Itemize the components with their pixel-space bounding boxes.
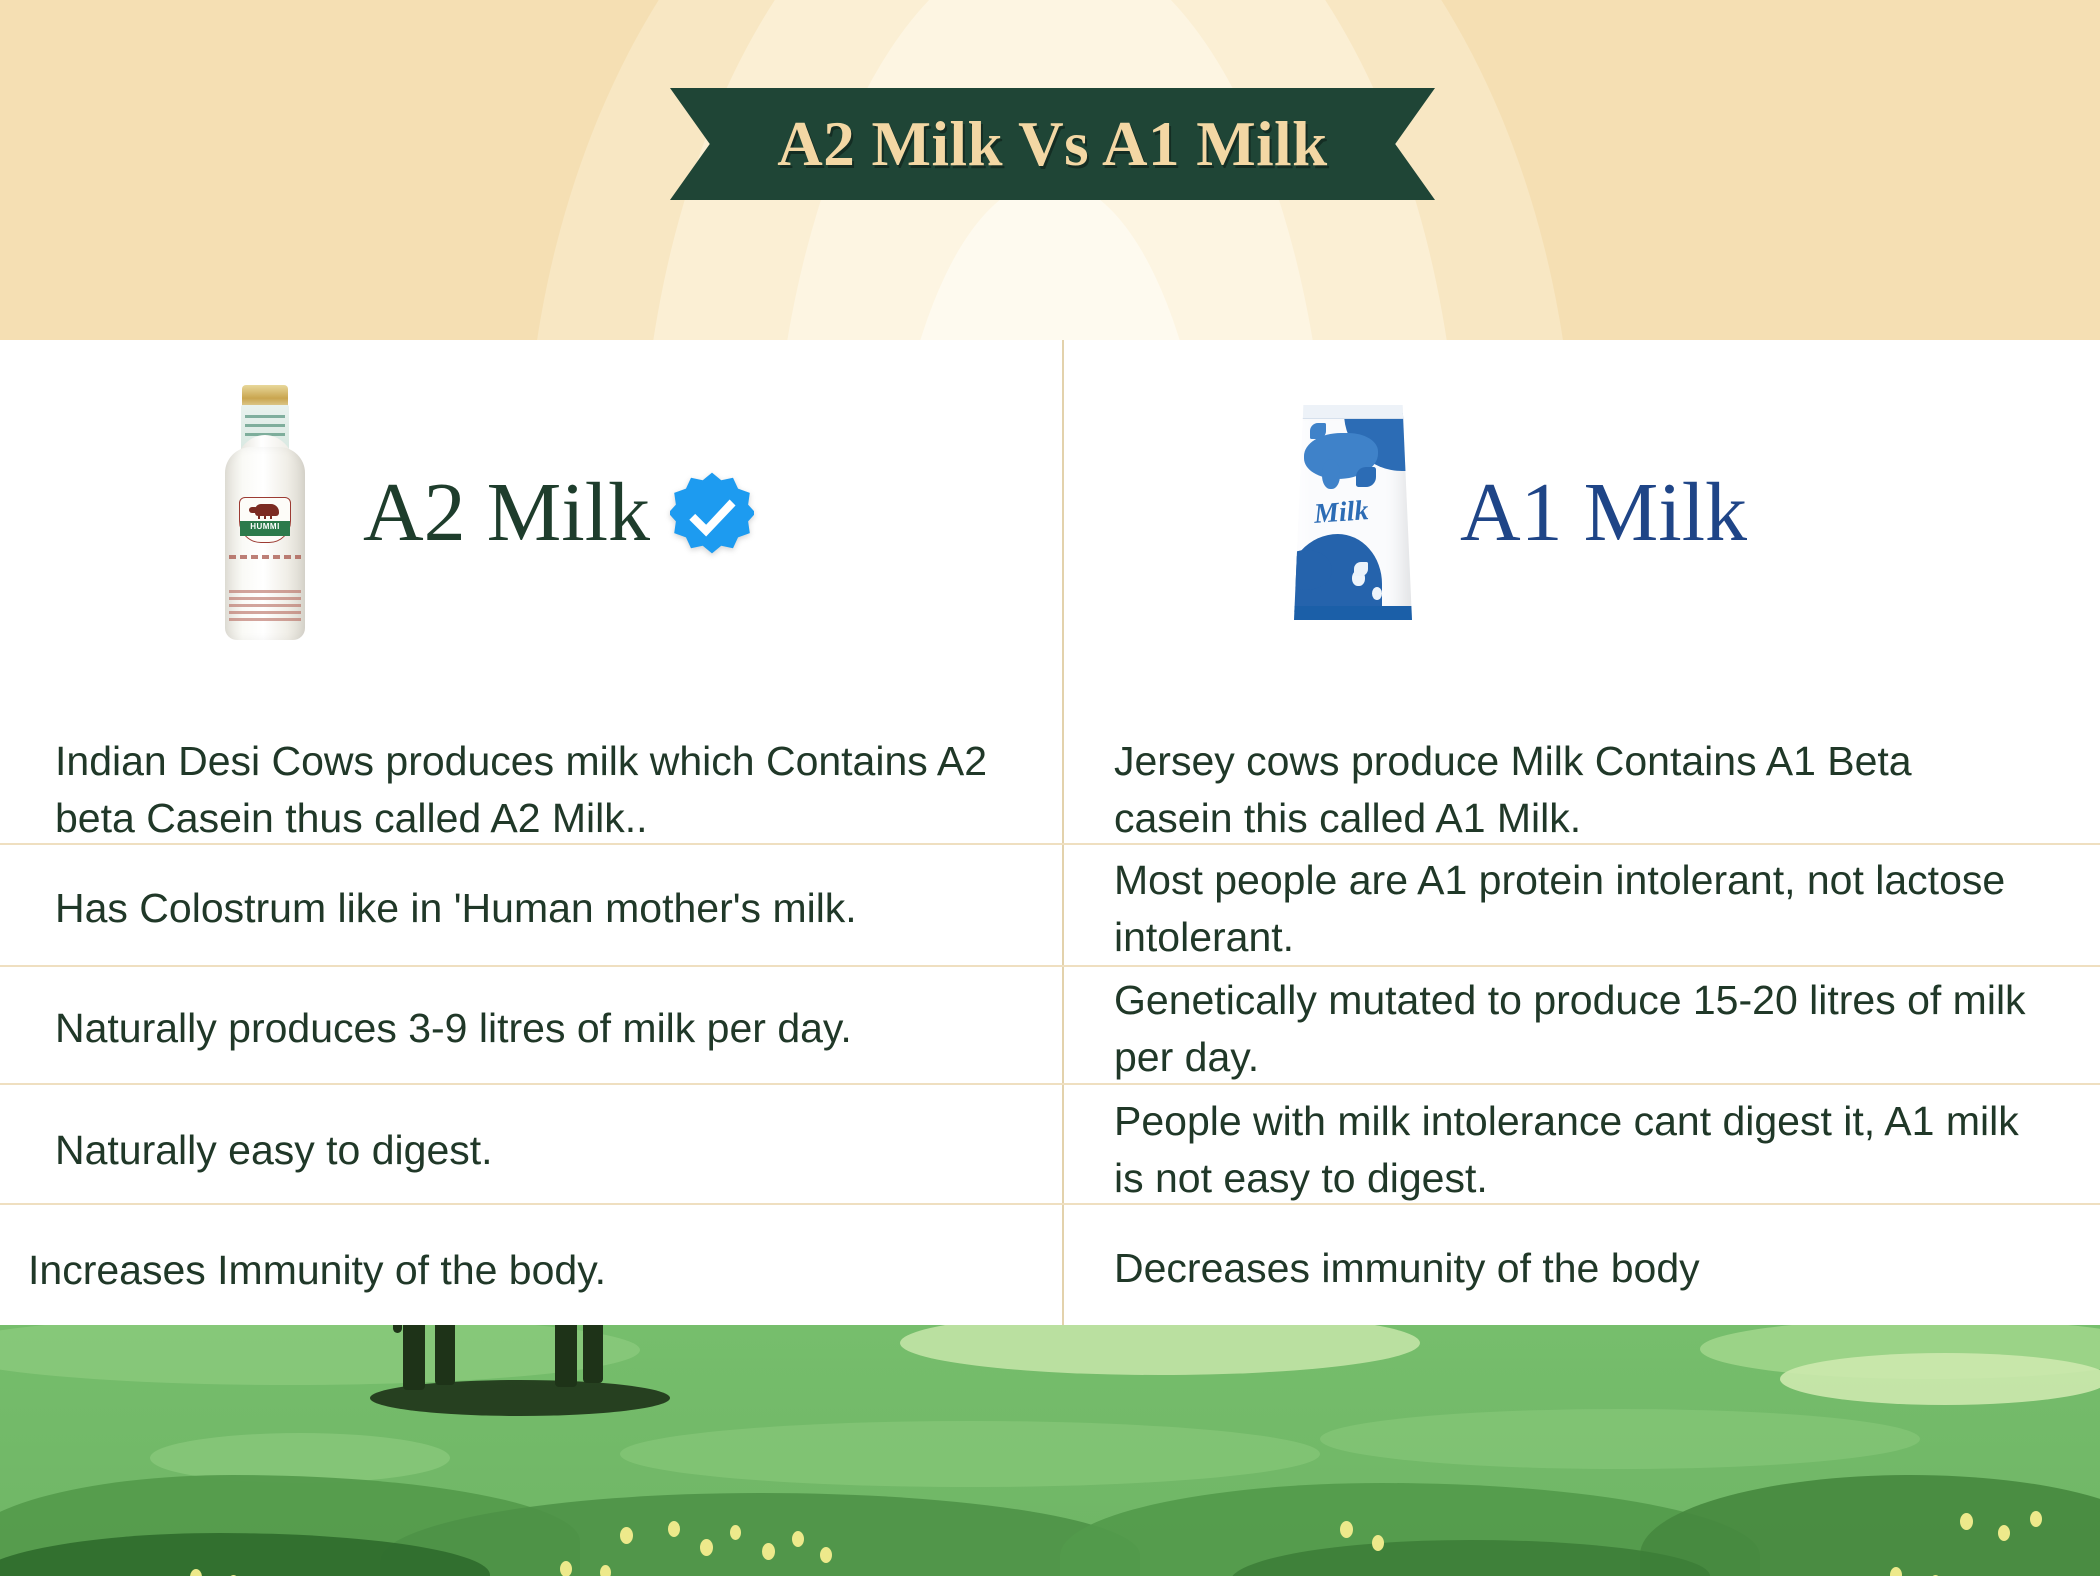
grass-dark-band-4 [1640,1475,2100,1576]
flower-dot [820,1547,832,1563]
flower-dot [730,1525,741,1540]
grass-highlight-4 [1780,1353,2100,1405]
flower-dot [1960,1513,1973,1530]
table-cell-a1-5: Decreases immunity of the body [1062,1240,2100,1297]
cow-logo-icon [255,504,279,516]
cow-leg-2 [435,1325,455,1385]
flower-dot [1998,1525,2010,1541]
flower-dot [792,1531,804,1547]
header-banner: A2 Milk Vs A1 Milk [0,0,2100,340]
flower-dot [1340,1521,1353,1538]
grass-patch-3 [1320,1409,1920,1469]
product-header-a1: Milk A1 Milk [1062,340,2100,685]
bottle-brand-text: HUMMI [239,522,291,531]
infographic-page: A2 Milk Vs A1 Milk HUMMI A2 Milk [0,0,2100,1576]
grass-highlight-2 [900,1325,1420,1375]
table-cell-a1-2: Most people are A1 protein intolerant, n… [1062,852,2100,965]
bottle-nutrition-table [229,590,301,622]
pouch-seal-bottom [1294,606,1412,620]
flower-dot [600,1565,611,1576]
row-divider-2 [0,965,2100,967]
product-name-a1: A1 Milk [1460,471,1747,555]
product-header-strip: HUMMI A2 Milk [0,340,2100,685]
bottle-tagline-text [229,555,301,559]
flower-dot [1890,1567,1902,1576]
product-name-a2: A2 Milk [363,471,650,555]
table-cell-a2-1: Indian Desi Cows produces milk which Con… [0,733,1062,846]
flower-dot [762,1543,775,1560]
pouch-splat-1 [1310,423,1326,439]
cow-leg-3 [555,1325,577,1387]
glass-milk-bottle-icon: HUMMI [215,385,315,640]
pouch-splat-3 [1354,562,1368,576]
table-cell-a2-4: Naturally easy to digest. [0,1122,1062,1179]
verified-check-badge-icon [670,471,754,555]
bottle-cap [242,385,288,407]
table-cell-a2-5: Increases Immunity of the body. [0,1242,1062,1299]
pouch-splat-2 [1356,467,1376,487]
title-ribbon: A2 Milk Vs A1 Milk [670,88,1435,200]
cow-leg-4 [583,1325,603,1383]
table-cell-a2-2: Has Colostrum like in 'Human mother's mi… [0,880,1062,937]
pouch-label-text: Milk [1313,495,1370,531]
flower-dot [620,1527,633,1544]
pouch-milk-drop-2 [1372,587,1382,600]
table-cell-a1-3: Genetically mutated to produce 15-20 lit… [1062,972,2100,1085]
table-cell-a1-1: Jersey cows produce Milk Contains A1 Bet… [1062,733,2100,846]
grass-patch-2 [620,1421,1320,1487]
flower-dot [700,1539,713,1556]
table-cell-a2-3: Naturally produces 3-9 litres of milk pe… [0,1000,1062,1057]
table-cell-a1-4: People with milk intolerance cant digest… [1062,1093,2100,1206]
flower-dot [2030,1511,2042,1527]
bottle-label: HUMMI [239,497,291,543]
pouch-seal-top [1294,405,1412,419]
flower-dot [560,1561,572,1576]
flower-dot [1372,1535,1384,1551]
pouch-splash-drip [1322,459,1340,489]
flower-dot [668,1521,680,1537]
milk-pouch-icon: Milk [1294,405,1412,620]
cow-leg-1 [403,1325,425,1390]
page-title: A2 Milk Vs A1 Milk [777,108,1327,181]
comparison-table: Indian Desi Cows produces milk which Con… [0,685,2100,1325]
grass-field-footer [0,1325,2100,1576]
cow-tail [393,1325,402,1333]
product-header-a2: HUMMI A2 Milk [0,340,1062,685]
pouch-body: Milk [1294,405,1412,620]
cow-legs-illustration [385,1325,645,1415]
